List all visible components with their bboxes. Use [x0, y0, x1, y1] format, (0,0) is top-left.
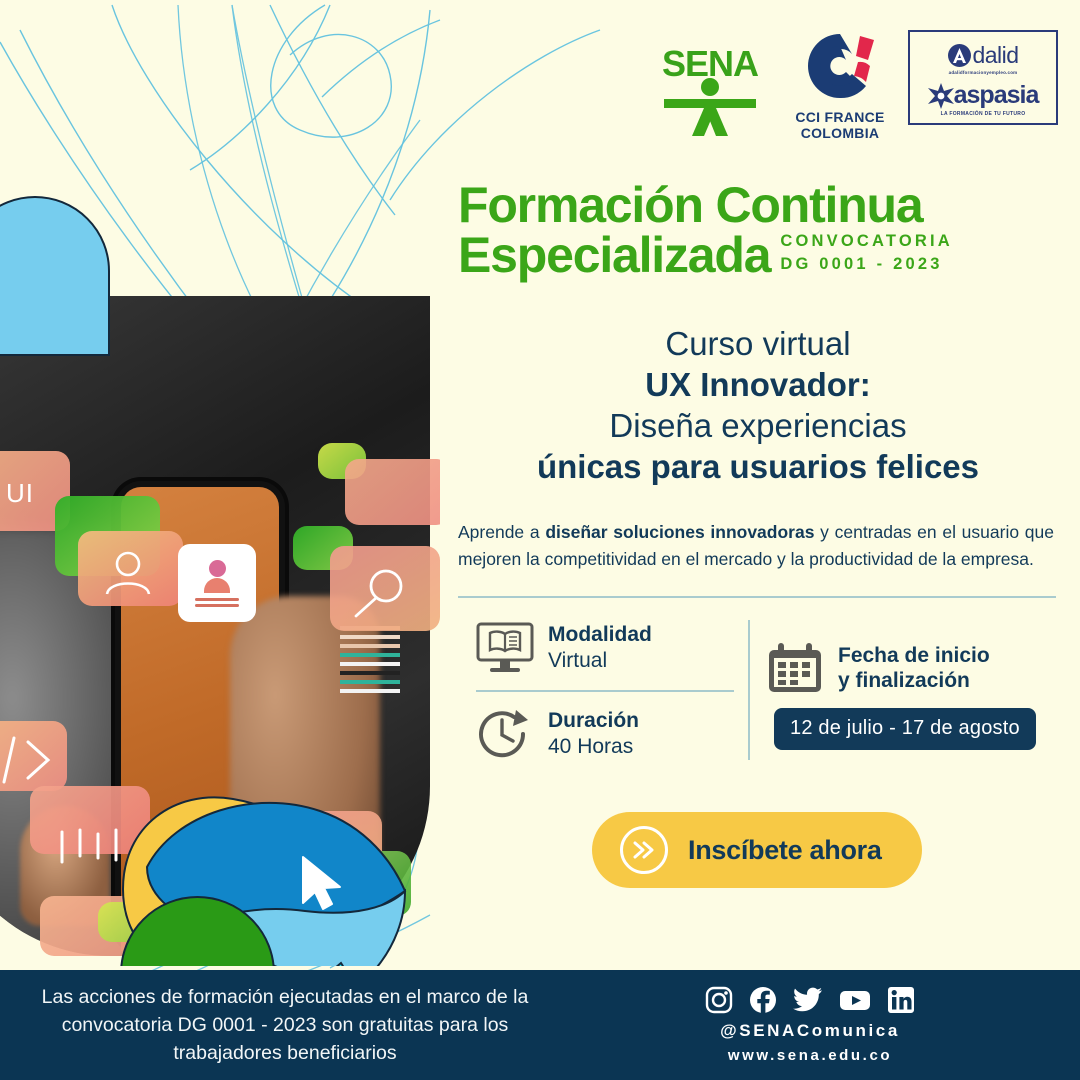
- tile-profile-card: [178, 544, 256, 622]
- aspasia-star-icon: [928, 83, 954, 109]
- social-icon-row: [705, 986, 915, 1014]
- course-name: UX Innovador:: [458, 364, 1058, 405]
- info-modalidad-label: Modalidad: [548, 622, 652, 647]
- partner-logo-box: dalid adalidformacionyempleo.com aspasia…: [908, 30, 1058, 125]
- course-subtitle-line1: Diseña experiencias: [458, 405, 1058, 446]
- convocatoria-label: CONVOCATORIA DG 0001 - 2023: [780, 230, 953, 275]
- calendar-icon: [766, 642, 824, 696]
- search-pointer-icon: [348, 564, 410, 622]
- info-modalidad-value: Virtual: [548, 647, 652, 674]
- section-divider-top: [458, 596, 1056, 598]
- tile-ui-label: UI: [6, 478, 34, 509]
- code-brackets-icon: [0, 734, 65, 786]
- info-right-column: Fecha de inicio y finalización 12 de jul…: [766, 616, 1056, 770]
- aspasia-logo-text: aspasia: [954, 81, 1039, 110]
- blue-arch-shape: [0, 196, 110, 356]
- adalid-tagline: adalidformacionyempleo.com: [910, 70, 1056, 75]
- course-title-block: Curso virtual UX Innovador: Diseña exper…: [458, 324, 1058, 487]
- info-duracion: Duración 40 Horas: [458, 700, 748, 770]
- main-content: Formación Continua Especializada CONVOCA…: [458, 180, 1058, 888]
- info-fecha: Fecha de inicio y finalización: [766, 642, 1056, 696]
- course-info-section: Modalidad Virtual Duración 40 Horas: [458, 616, 1056, 770]
- instagram-icon[interactable]: [705, 986, 733, 1014]
- youtube-icon[interactable]: [839, 986, 871, 1014]
- course-kicker: Curso virtual: [458, 324, 1058, 364]
- aspasia-tagline: LA FORMACIÓN DE TU FUTURO: [910, 111, 1056, 117]
- info-modalidad: Modalidad Virtual: [458, 616, 748, 682]
- sena-logo: SENA: [650, 46, 770, 141]
- course-subtitle-line2: únicas para usuarios felices: [458, 446, 1058, 487]
- poster-canvas: UI: [0, 0, 1080, 1080]
- facebook-icon[interactable]: [749, 986, 777, 1014]
- footer-disclaimer: Las acciones de formación ejecutadas en …: [0, 983, 560, 1068]
- cta-label: Inscíbete ahora: [688, 835, 882, 866]
- info-duracion-label: Duración: [548, 708, 639, 733]
- social-handle: @SENAComunica: [720, 1021, 900, 1041]
- sena-logo-text: SENA: [650, 46, 770, 82]
- course-illustration: UI: [0, 196, 440, 966]
- info-duracion-value: 40 Horas: [548, 733, 639, 760]
- cci-logo-line1: CCI FRANCE: [785, 109, 895, 125]
- description-highlight: diseñar soluciones innovadoras: [545, 522, 814, 542]
- cci-logo: CCI FRANCE COLOMBIA: [785, 30, 895, 141]
- info-fecha-label: Fecha de inicio y finalización: [838, 644, 990, 694]
- adalid-a-icon: [947, 43, 972, 68]
- headline: Formación Continua Especializada CONVOCA…: [458, 180, 1058, 280]
- cta-circle: [620, 826, 668, 874]
- double-chevron-right-icon: [631, 838, 657, 862]
- mouse-cursor-icon: [297, 853, 347, 915]
- headline-line-1: Formación Continua: [458, 180, 1058, 230]
- footer-social-block: @SENAComunica www.sena.edu.co: [560, 986, 1080, 1064]
- monitor-book-icon: [476, 622, 534, 674]
- inscribete-ahora-button[interactable]: Inscíbete ahora: [592, 812, 922, 888]
- footer-bar: Las acciones de formación ejecutadas en …: [0, 970, 1080, 1080]
- info-divider-vertical: [748, 620, 750, 760]
- user-avatar-icon: [100, 548, 156, 598]
- cci-logo-line2: COLOMBIA: [785, 125, 895, 141]
- linkedin-icon[interactable]: [887, 986, 915, 1014]
- twitter-icon[interactable]: [793, 986, 823, 1014]
- partner-logos: SENA CCI FRANCE COLOMBIA: [640, 24, 1060, 136]
- info-duracion-text: Duración 40 Horas: [548, 708, 639, 760]
- info-modalidad-text: Modalidad Virtual: [548, 622, 652, 674]
- info-left-column: Modalidad Virtual Duración 40 Horas: [458, 616, 748, 770]
- cci-c-icon: [796, 30, 884, 102]
- info-fecha-badge: 12 de julio - 17 de agosto: [774, 708, 1036, 750]
- list-lines-detail: [340, 626, 410, 776]
- description-part-1: Aprende a: [458, 522, 545, 542]
- adalid-logo-text: dalid: [972, 42, 1018, 69]
- headline-line-2: Especializada: [458, 230, 770, 280]
- sena-figure-icon: [660, 78, 760, 136]
- clock-icon: [476, 706, 534, 762]
- course-description: Aprende a diseñar soluciones innovadoras…: [458, 519, 1054, 573]
- info-divider-horizontal: [476, 690, 734, 692]
- cta-wrapper: Inscíbete ahora: [458, 812, 1056, 888]
- tile-pink-1: [345, 459, 440, 525]
- website-url: www.sena.edu.co: [728, 1047, 892, 1064]
